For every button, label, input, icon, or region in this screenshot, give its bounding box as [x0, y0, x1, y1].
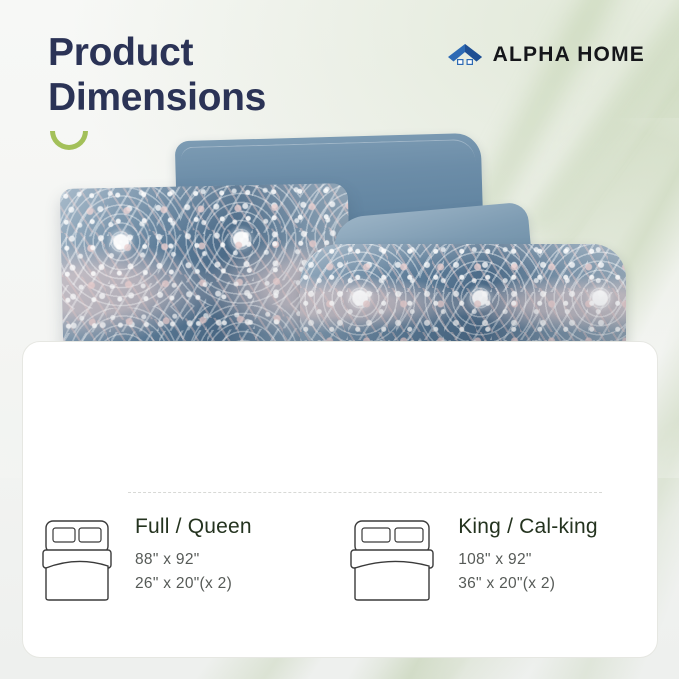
spec-title: Full / Queen	[135, 514, 252, 540]
page-title: Product Dimensions	[48, 30, 266, 120]
spec-sham-size: 26" x 20"(x 2)	[135, 572, 252, 595]
specs-divider	[128, 492, 602, 493]
spec-text-full-queen: Full / Queen 88" x 92" 26" x 20"(x 2)	[135, 514, 252, 596]
brand-logo: ALPHA HOME	[446, 41, 645, 69]
spec-title: King / Cal-king	[458, 514, 598, 540]
specs-list: Full / Queen 88" x 92" 26" x 20"(x 2)	[23, 514, 659, 602]
spec-comforter-size: 108" x 92"	[458, 548, 598, 571]
bed-icon-king-cal-king	[348, 518, 436, 602]
spec-comforter-size: 88" x 92"	[135, 548, 252, 571]
page-title-line-1: Product	[48, 30, 266, 75]
spec-item-full-queen: Full / Queen 88" x 92" 26" x 20"(x 2)	[23, 514, 334, 602]
spec-item-king-cal-king: King / Cal-king 108" x 92" 36" x 20"(x 2…	[334, 514, 659, 602]
spec-dimensions: 88" x 92" 26" x 20"(x 2)	[135, 548, 252, 595]
specs-card: Full / Queen 88" x 92" 26" x 20"(x 2)	[22, 341, 658, 658]
brand-name: ALPHA HOME	[493, 43, 645, 67]
spec-dimensions: 108" x 92" 36" x 20"(x 2)	[458, 548, 598, 595]
spec-text-king-cal-king: King / Cal-king 108" x 92" 36" x 20"(x 2…	[458, 514, 598, 596]
bed-icon-full-queen	[41, 518, 113, 602]
house-roof-icon	[446, 41, 484, 69]
page-title-line-2: Dimensions	[48, 75, 266, 120]
spec-sham-size: 36" x 20"(x 2)	[458, 572, 598, 595]
infographic-page: Product Dimensions ALPHA HOME	[0, 0, 679, 679]
